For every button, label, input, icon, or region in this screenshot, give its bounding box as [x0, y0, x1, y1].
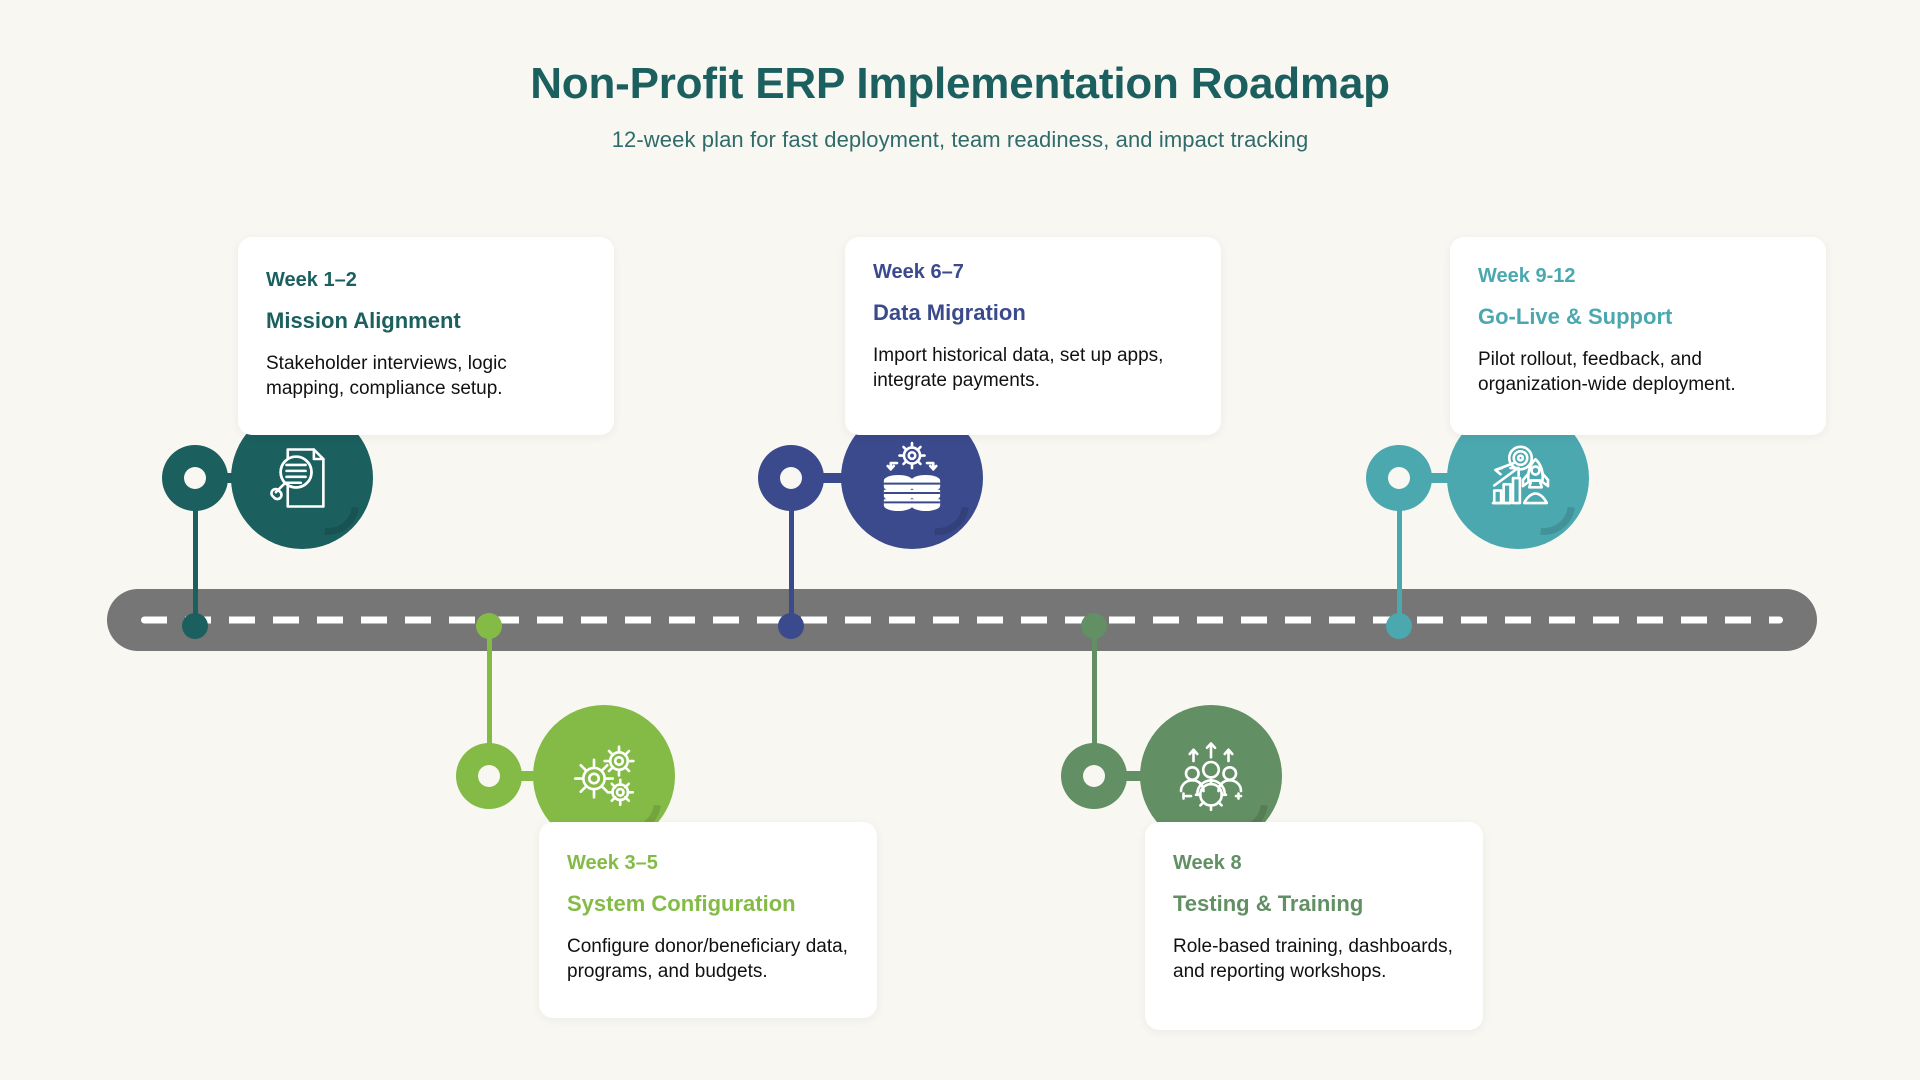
- page-title: Non-Profit ERP Implementation Roadmap: [0, 58, 1920, 110]
- header: Non-Profit ERP Implementation Roadmap 12…: [0, 58, 1920, 153]
- card-title: System Configuration: [567, 890, 849, 919]
- card-description: Pilot rollout, feedback, and organizatio…: [1478, 347, 1798, 398]
- card-week-label: Week 9-12: [1478, 263, 1798, 289]
- card-week-label: Week 3–5: [567, 850, 849, 876]
- milestone-hub: [162, 445, 228, 511]
- gears-icon: [564, 736, 644, 816]
- card-title: Data Migration: [873, 299, 1193, 328]
- card-description: Configure donor/beneficiary data, progra…: [567, 934, 849, 985]
- card-description: Stakeholder interviews, logic mapping, c…: [266, 351, 586, 402]
- milestone-hub: [456, 743, 522, 809]
- page-subtitle: 12-week plan for fast deployment, team r…: [0, 127, 1920, 153]
- milestone-card-week-6-7[interactable]: Week 6–7 Data Migration Import historica…: [845, 237, 1221, 435]
- team-growth-gear-icon: [1171, 736, 1251, 816]
- roadmap-canvas: Non-Profit ERP Implementation Roadmap 12…: [0, 0, 1920, 1080]
- road-node: [1081, 613, 1107, 639]
- card-week-label: Week 8: [1173, 850, 1455, 876]
- road-node: [182, 613, 208, 639]
- road-node: [778, 613, 804, 639]
- document-magnifier-icon: [264, 440, 340, 516]
- card-week-label: Week 1–2: [266, 267, 586, 293]
- milestone-hub: [758, 445, 824, 511]
- milestone-card-week-1-2[interactable]: Week 1–2 Mission Alignment Stakeholder i…: [238, 237, 614, 435]
- timeline-road: [107, 589, 1817, 651]
- card-week-label: Week 6–7: [873, 259, 1193, 285]
- card-description: Import historical data, set up apps, int…: [873, 343, 1193, 394]
- milestone-card-week-3-5[interactable]: Week 3–5 System Configuration Configure …: [539, 822, 877, 1018]
- milestone-hub: [1061, 743, 1127, 809]
- card-title: Go-Live & Support: [1478, 303, 1798, 332]
- rocket-growth-icon: [1478, 438, 1558, 518]
- milestone-hub: [1366, 445, 1432, 511]
- card-description: Role-based training, dashboards, and rep…: [1173, 934, 1455, 985]
- milestone-card-week-9-12[interactable]: Week 9-12 Go-Live & Support Pilot rollou…: [1450, 237, 1826, 435]
- database-gear-icon: [872, 438, 952, 518]
- milestone-card-week-8[interactable]: Week 8 Testing & Training Role-based tra…: [1145, 822, 1483, 1030]
- road-node: [1386, 613, 1412, 639]
- road-dash-line: [141, 617, 1783, 624]
- road-node: [476, 613, 502, 639]
- card-title: Testing & Training: [1173, 890, 1455, 919]
- card-title: Mission Alignment: [266, 307, 586, 336]
